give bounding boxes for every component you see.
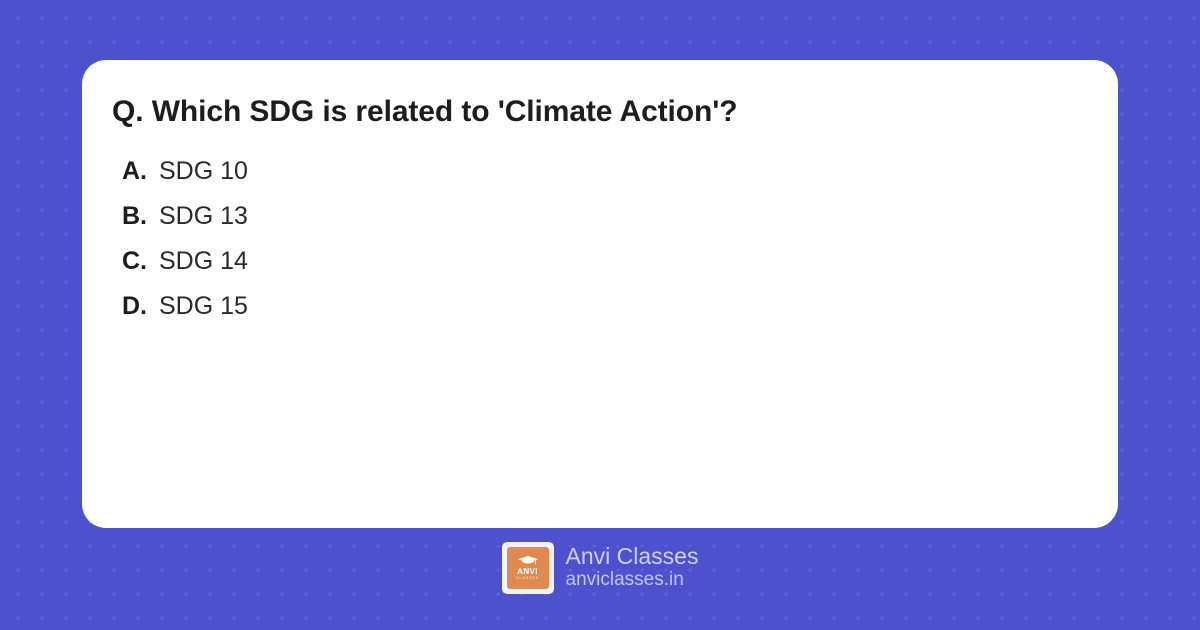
option-row-b[interactable]: B. SDG 13 xyxy=(122,202,248,247)
option-row-c[interactable]: C. SDG 14 xyxy=(122,247,248,292)
question-text: Q. Which SDG is related to 'Climate Acti… xyxy=(112,95,738,129)
brand-url[interactable]: anviclasses.in xyxy=(566,569,699,592)
option-text-c: SDG 14 xyxy=(159,247,248,276)
brand-text-block: Anvi Classes anviclasses.in xyxy=(566,544,699,593)
footer-branding: ANVI CLASSES Anvi Classes anviclasses.in xyxy=(0,542,1200,594)
option-letter-b: B. xyxy=(122,202,150,231)
option-text-a: SDG 10 xyxy=(159,157,248,186)
brand-logo-name: ANVI xyxy=(517,568,538,576)
graduation-cap-icon xyxy=(517,555,539,567)
option-row-d[interactable]: D. SDG 15 xyxy=(122,292,248,337)
option-row-a[interactable]: A. SDG 10 xyxy=(122,157,248,202)
brand-logo-subtitle: CLASSES xyxy=(516,577,540,581)
option-letter-c: C. xyxy=(122,247,150,276)
option-text-d: SDG 15 xyxy=(159,292,248,321)
option-text-b: SDG 13 xyxy=(159,202,248,231)
brand-block[interactable]: ANVI CLASSES Anvi Classes anviclasses.in xyxy=(502,542,699,594)
brand-logo: ANVI CLASSES xyxy=(502,542,554,594)
option-letter-a: A. xyxy=(122,157,150,186)
option-letter-d: D. xyxy=(122,292,150,321)
question-card: Q. Which SDG is related to 'Climate Acti… xyxy=(82,60,1118,528)
brand-logo-inner: ANVI CLASSES xyxy=(507,547,549,589)
options-list: A. SDG 10 B. SDG 13 C. SDG 14 D. SDG 15 xyxy=(122,157,248,337)
brand-title: Anvi Classes xyxy=(566,544,699,570)
